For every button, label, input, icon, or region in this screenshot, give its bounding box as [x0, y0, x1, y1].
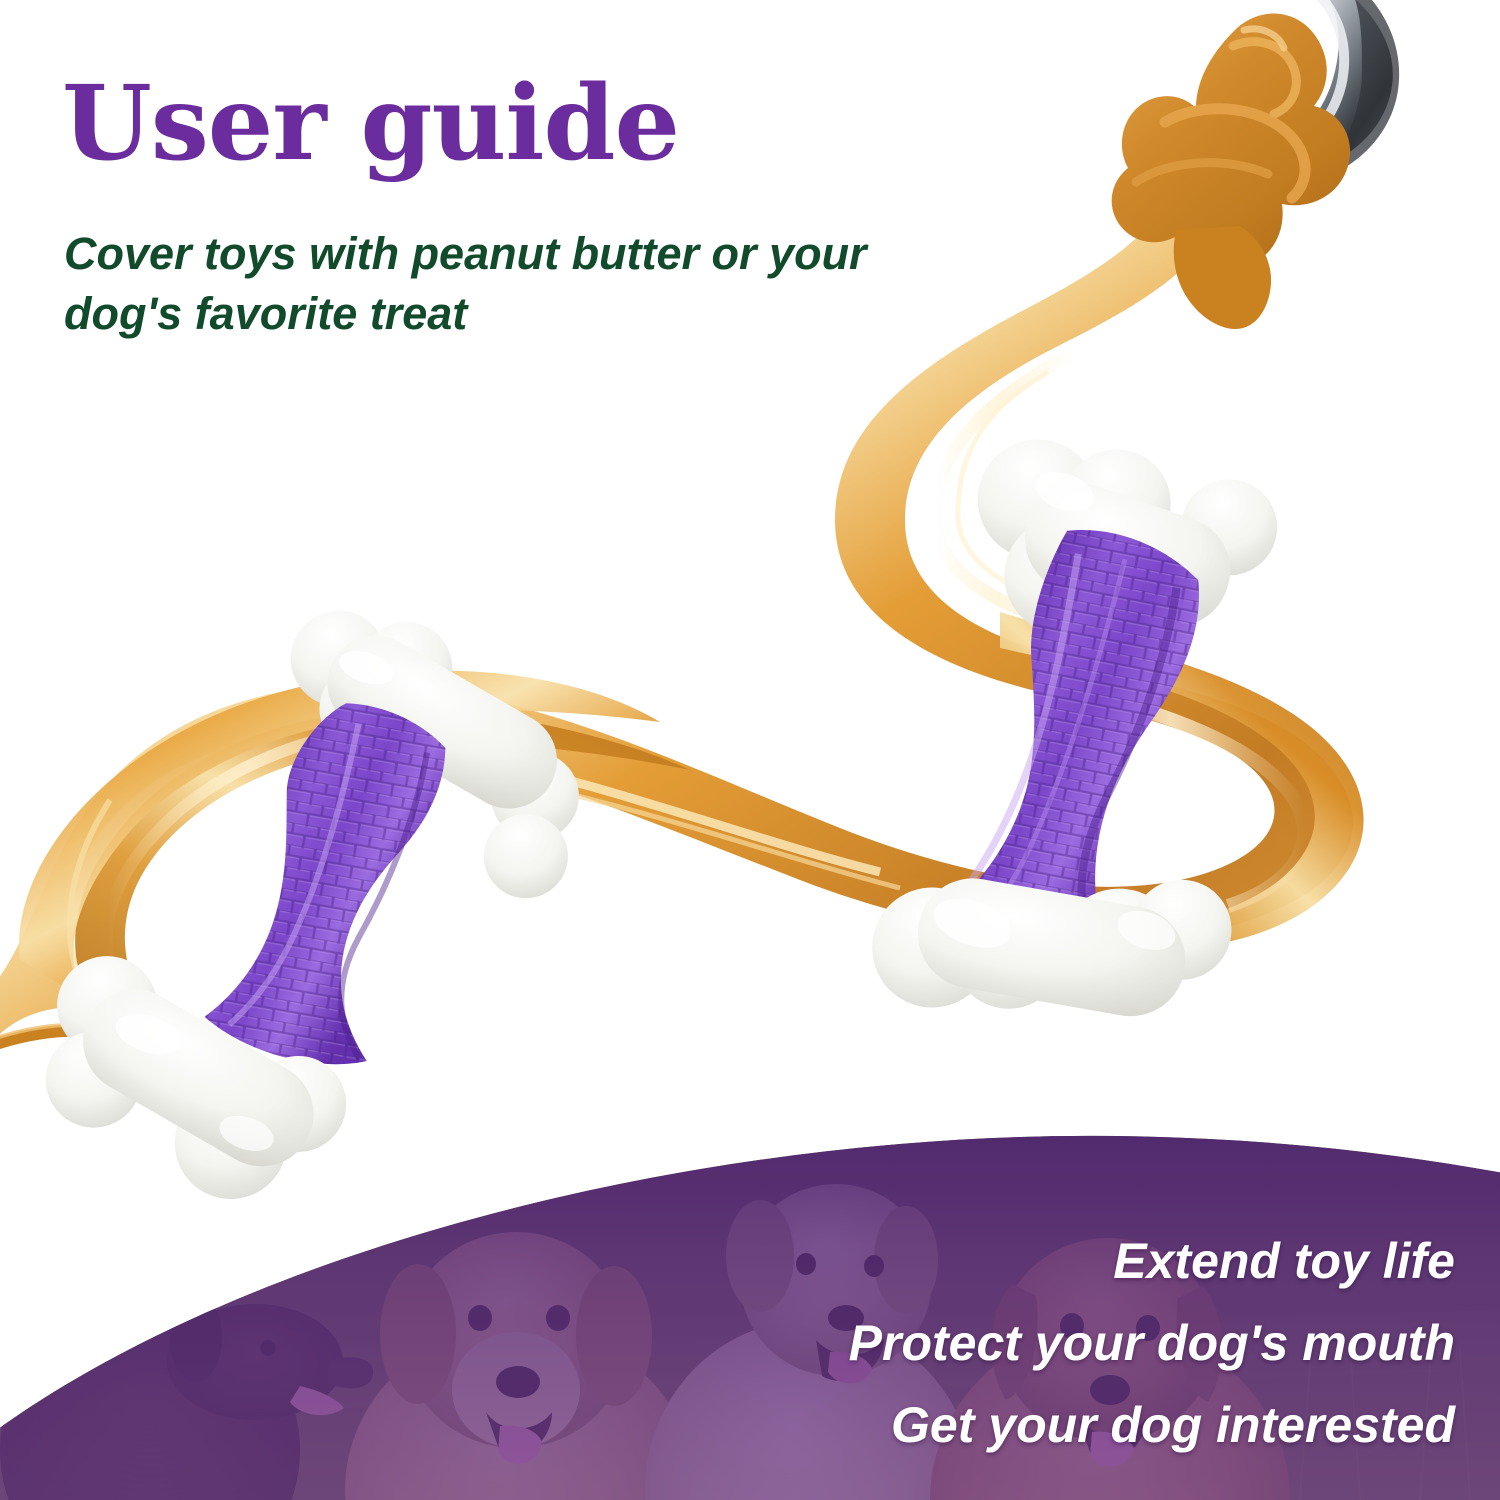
infographic-canvas: User guide Cover toys with peanut butter…	[0, 0, 1500, 1500]
benefit-line-1: Extend toy life	[1113, 1232, 1455, 1290]
benefits-banner: Extend toy life Protect your dog's mouth…	[0, 1090, 1500, 1500]
page-title: User guide	[62, 72, 679, 175]
page-subtitle: Cover toys with peanut butter or your do…	[64, 224, 944, 344]
benefit-line-2: Protect your dog's mouth	[849, 1314, 1455, 1372]
benefit-line-3: Get your dog interested	[891, 1396, 1455, 1454]
